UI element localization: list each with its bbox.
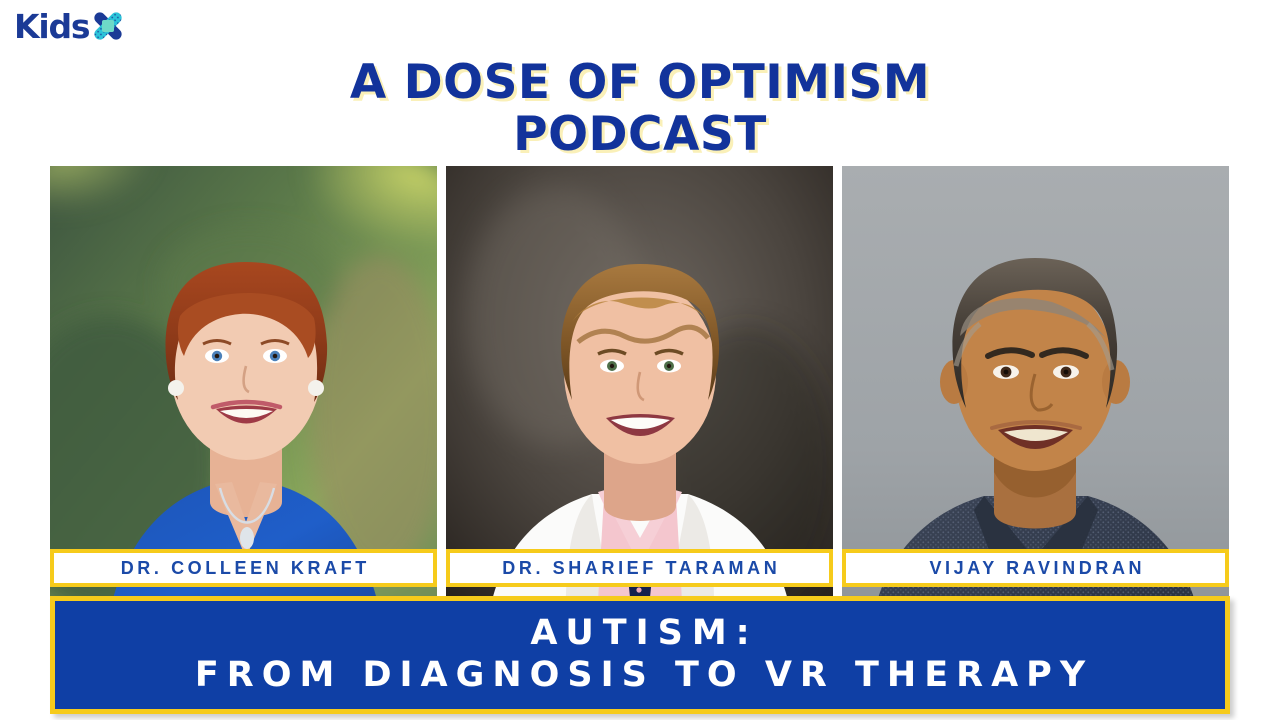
episode-title-banner: AUTISM: FROM DIAGNOSIS TO VR THERAPY (50, 596, 1230, 714)
bandage-x-icon (87, 5, 129, 47)
speaker-card: DR. SHARIEF TARAMAN (446, 166, 833, 636)
speaker-name-plate: DR. SHARIEF TARAMAN (446, 549, 833, 587)
speaker-name: DR. SHARIEF TARAMAN (499, 558, 781, 579)
speaker-card: DR. COLLEEN KRAFT (50, 166, 437, 636)
speaker-name: DR. COLLEEN KRAFT (117, 558, 370, 579)
speaker-name-plate: VIJAY RAVINDRAN (842, 549, 1229, 587)
episode-title-line-2: FROM DIAGNOSIS TO VR THERAPY (187, 653, 1093, 697)
brand-wordmark: Kids (14, 10, 89, 43)
speaker-card: VIJAY RAVINDRAN (842, 166, 1229, 636)
episode-title-line-1: AUTISM: (521, 613, 758, 653)
speaker-name: VIJAY RAVINDRAN (926, 558, 1145, 579)
kidsx-logo[interactable]: Kids (14, 4, 129, 48)
speaker-name-plate: DR. COLLEEN KRAFT (50, 549, 437, 587)
speaker-photo-strip: DR. COLLEEN KRAFT (50, 166, 1230, 636)
page-title: A DOSE OF OPTIMISM PODCAST (0, 57, 1280, 161)
